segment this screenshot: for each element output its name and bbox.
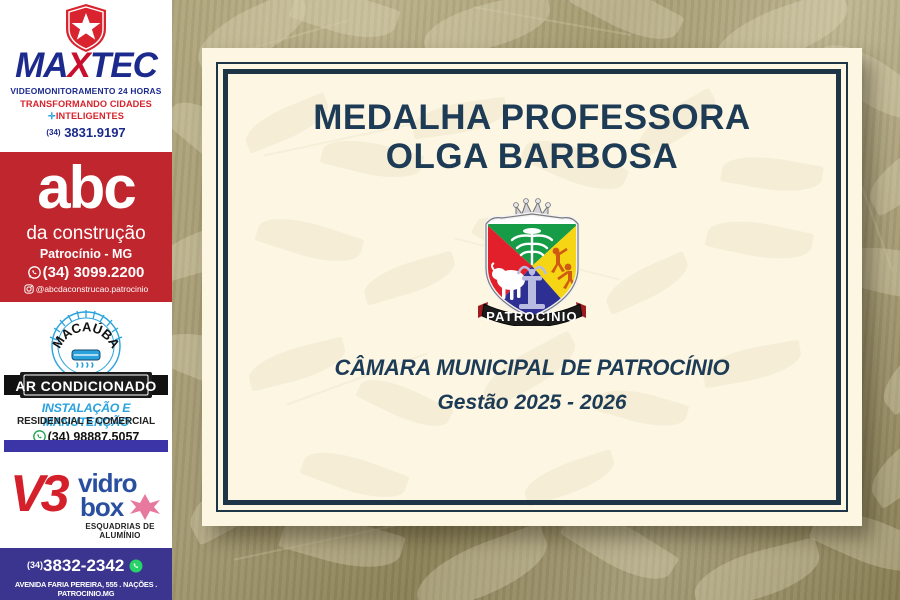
maxtec-wordmark: MAXTEC — [0, 48, 172, 83]
maxtec-wordmark-main: MA — [15, 46, 67, 85]
vidrobox-star-icon — [128, 492, 162, 522]
organization-name: CÂMARA MUNICIPAL DE PATROCÍNIO — [335, 355, 730, 381]
maxtec-slogan-line2: INTELIGENTES — [56, 111, 124, 121]
vidrobox-phone[interactable]: (34)3832-2342 — [0, 556, 172, 576]
vidrobox-subtitle: ESQUADRIAS DE ALUMÍNIO — [70, 522, 170, 540]
term-label: Gestão 2025 - 2026 — [437, 391, 626, 415]
vidrobox-area-code: (34) — [27, 560, 43, 570]
crest-banner-text: PATROCINIO — [486, 309, 578, 324]
ad-vidrobox[interactable]: V3 vidro box ESQUADRIAS DE ALUMÍNIO (34)… — [0, 452, 172, 600]
abc-subtitle: da construção — [0, 224, 172, 243]
abc-instagram[interactable]: @abcdaconstrucao.patrocinio — [0, 284, 172, 294]
macauba-badge-icon: MACAÚBA — [43, 306, 129, 380]
vidrobox-address: AVENIDA FARIA PEREIRA, 555 . NAÇÕES . PA… — [0, 580, 172, 598]
whatsapp-icon — [28, 266, 41, 279]
air-conditioner-icon — [72, 350, 100, 367]
ad-maxtec[interactable]: MAXTEC VIDEOMONITORAMENTO 24 HORAS TRANS… — [0, 0, 172, 152]
macauba-ribbon: AR CONDICIONADO — [4, 372, 168, 398]
vidrobox-footer: (34)3832-2342 AVENIDA FARIA PEREIRA, 555… — [0, 548, 172, 600]
abc-wordmark: abc — [0, 158, 172, 218]
plaque-content: MEDALHA PROFESSORA OLGA BARBOSA — [236, 82, 828, 492]
vidrobox-logomark: V3 — [10, 468, 66, 520]
award-plaque: MEDALHA PROFESSORA OLGA BARBOSA — [202, 48, 862, 526]
macauba-ribbon-text: AR CONDICIONADO — [15, 378, 156, 394]
abc-phone-number: (34) 3099.2200 — [43, 264, 145, 281]
vidrobox-brand-line2: box — [80, 494, 123, 520]
ad-abc-construcao[interactable]: abc da construção Patrocínio - MG (34) 3… — [0, 152, 172, 302]
vidrobox-phone-number: 3832-2342 — [43, 556, 124, 575]
maxtec-tagline: VIDEOMONITORAMENTO 24 HORAS — [0, 86, 172, 96]
abc-city: Patrocínio - MG — [0, 247, 172, 261]
title-line-2: OLGA BARBOSA — [313, 137, 750, 176]
plus-icon: ✛ — [48, 111, 56, 121]
instagram-icon — [24, 284, 34, 294]
ad-macauba-ar-condicionado[interactable]: MACAÚBA AR CONDICIO — [0, 302, 172, 452]
abc-phone[interactable]: (34) 3099.2200 — [0, 264, 172, 281]
maxtec-slogan: TRANSFORMANDO CIDADES ✛INTELIGENTES — [0, 98, 172, 122]
title-line-1: MEDALHA PROFESSORA — [313, 98, 750, 137]
photo-background: MEDALHA PROFESSORA OLGA BARBOSA — [172, 0, 900, 600]
page-title: MEDALHA PROFESSORA OLGA BARBOSA — [313, 98, 750, 176]
maxtec-area-code: (34) — [46, 128, 60, 137]
macauba-bottom-strip — [4, 440, 168, 452]
coat-of-arms-icon: PATROCINIO — [472, 194, 592, 331]
maxtec-phone-number: 3831.9197 — [64, 125, 125, 140]
maxtec-phone[interactable]: (34) 3831.9197 — [0, 125, 172, 140]
advertisement-sidebar: MAXTEC VIDEOMONITORAMENTO 24 HORAS TRANS… — [0, 0, 172, 600]
whatsapp-icon — [129, 559, 143, 573]
macauba-service-line2: RESIDENCIAL E COMERCIAL — [0, 416, 172, 427]
screenshot-root: MEDALHA PROFESSORA OLGA BARBOSA — [0, 0, 900, 600]
maxtec-wordmark-tail: TEC — [90, 46, 157, 85]
maxtec-wordmark-accent: X — [68, 46, 90, 85]
maxtec-slogan-line1: TRANSFORMANDO CIDADES — [20, 99, 152, 109]
abc-instagram-handle: @abcdaconstrucao.patrocinio — [36, 284, 149, 294]
